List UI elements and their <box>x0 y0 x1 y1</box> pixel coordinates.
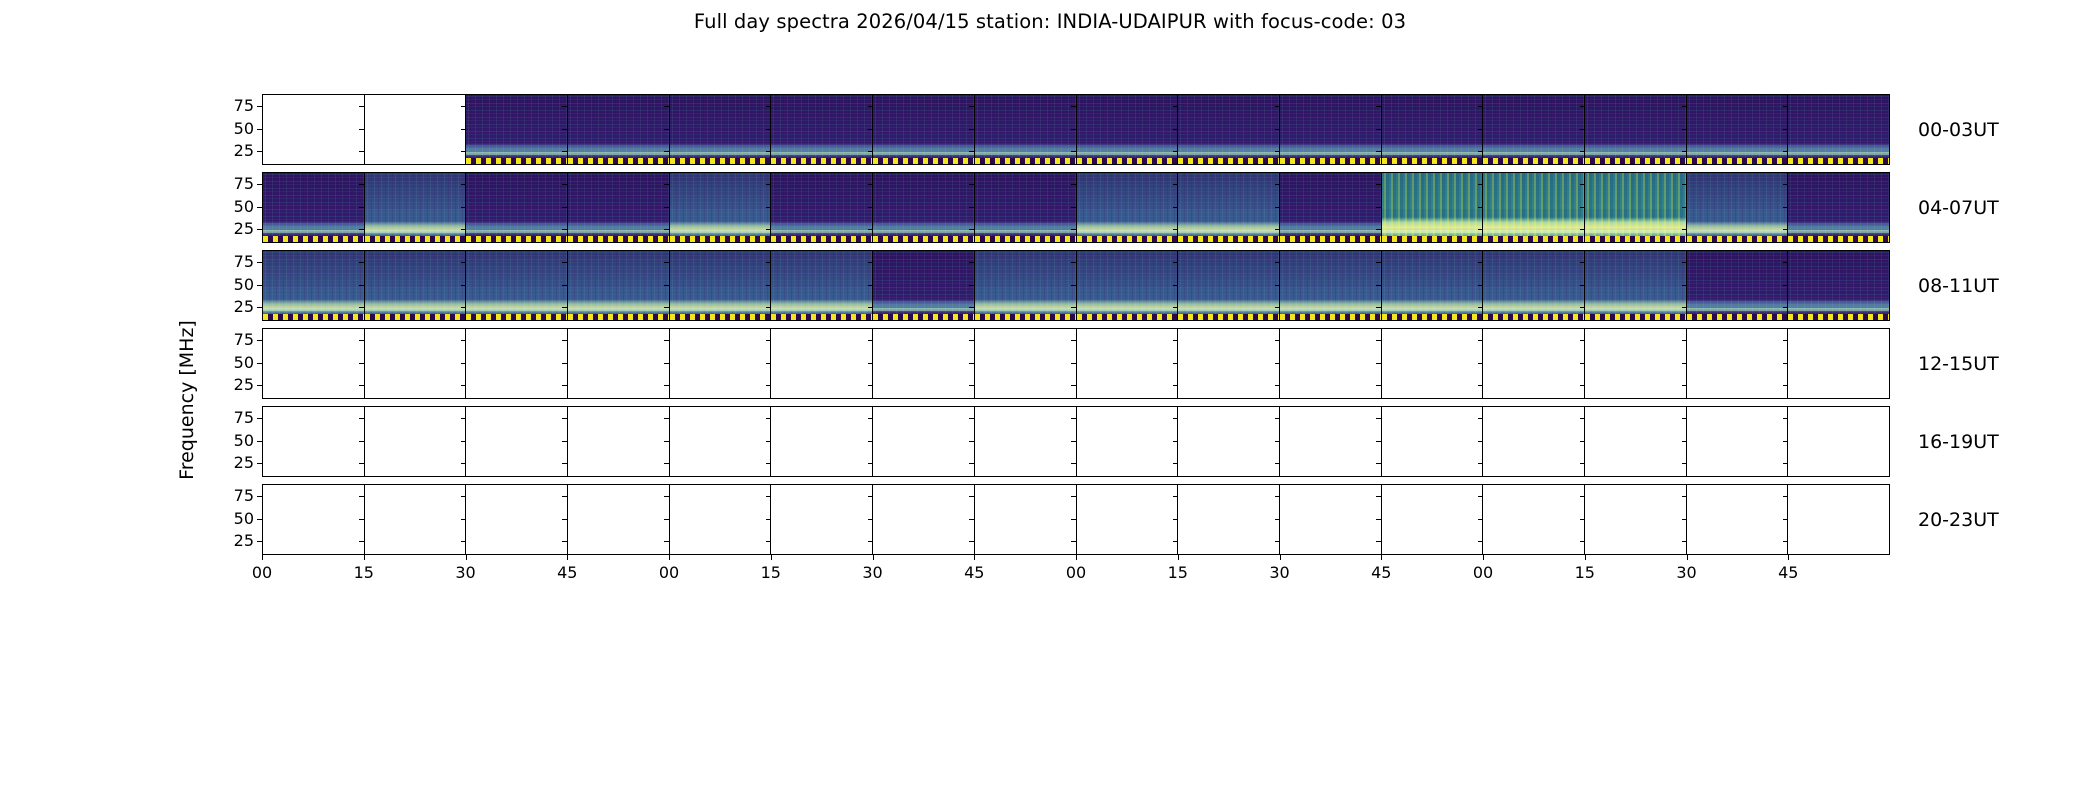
y-tick-mark <box>257 340 262 341</box>
spectrogram-layer-lowband2 <box>1483 152 1584 155</box>
spectrogram-cell[interactable] <box>1382 173 1484 242</box>
y-tick-mark-inner <box>1478 463 1483 464</box>
spectrogram-cell[interactable] <box>1483 251 1585 320</box>
spectrogram-layer-lowband2 <box>263 230 364 233</box>
row-label: 08-11UT <box>1918 275 1999 297</box>
y-tick-mark <box>257 496 262 497</box>
y-tick-label: 25 <box>214 221 254 237</box>
y-tick-mark-inner <box>1376 340 1381 341</box>
y-tick-mark-inner <box>1376 519 1381 520</box>
spectrogram-cell[interactable] <box>568 329 670 398</box>
spectrogram-cell[interactable] <box>975 407 1077 476</box>
spectrogram-cell[interactable] <box>1178 329 1280 398</box>
spectrogram-cell[interactable] <box>1483 407 1585 476</box>
y-tick-mark-inner <box>1376 229 1381 230</box>
y-tick-mark-inner <box>1275 340 1280 341</box>
y-tick-mark-inner <box>969 207 974 208</box>
spectrogram-cell[interactable] <box>568 251 670 320</box>
y-tick-mark-inner <box>1783 418 1788 419</box>
spectrogram-layer-lowband2 <box>1077 152 1178 155</box>
y-tick-mark-inner <box>461 106 466 107</box>
y-tick-mark-inner <box>766 307 771 308</box>
y-tick-mark-inner <box>1682 151 1687 152</box>
spectrogram-cell[interactable] <box>1483 329 1585 398</box>
y-tick-mark-inner <box>1580 541 1585 542</box>
rfi-dotted-rule <box>1382 236 1483 242</box>
y-tick-mark-inner <box>664 385 669 386</box>
spectrogram-image <box>771 95 872 164</box>
spectrogram-layer-lowband2 <box>365 308 466 311</box>
rfi-dotted-rule <box>1077 314 1178 320</box>
spectrogram-layer-lowband2 <box>1178 308 1279 311</box>
spectrogram-cell[interactable] <box>670 173 772 242</box>
spectrogram-layer-lowband <box>1483 143 1584 158</box>
y-tick-mark-inner <box>359 207 364 208</box>
spectrogram-layer-lowband <box>466 299 567 314</box>
y-tick-mark-inner <box>1580 129 1585 130</box>
y-tick-mark-inner <box>969 262 974 263</box>
spectrogram-cell[interactable] <box>1585 485 1687 554</box>
spectrogram-cell[interactable] <box>975 95 1077 164</box>
y-tick-mark-inner <box>969 184 974 185</box>
spectrogram-cell[interactable] <box>263 485 365 554</box>
x-tick-mark <box>974 555 975 560</box>
spectrogram-cell[interactable] <box>263 173 365 242</box>
spectrogram-layer-lowband <box>771 299 872 314</box>
spectrogram-image <box>1483 251 1584 320</box>
y-tick-mark-inner <box>1478 541 1483 542</box>
y-tick-mark-inner <box>1682 207 1687 208</box>
spectrogram-layer-lowband <box>1788 221 1889 236</box>
y-tick-mark-inner <box>664 106 669 107</box>
spectrogram-cell[interactable] <box>1178 251 1280 320</box>
spectrogram-cell[interactable] <box>873 485 975 554</box>
spectrogram-cell[interactable] <box>873 251 975 320</box>
y-tick-mark-inner <box>461 541 466 542</box>
y-tick-mark <box>257 129 262 130</box>
spectrogram-cell[interactable] <box>873 173 975 242</box>
y-tick-mark-inner <box>1275 307 1280 308</box>
rfi-dotted-rule <box>1687 236 1788 242</box>
y-tick-mark-inner <box>1682 340 1687 341</box>
y-tick-label: 25 <box>214 143 254 159</box>
spectrogram-image <box>263 173 364 242</box>
spectrogram-layer-lowband <box>263 299 364 314</box>
y-tick-mark-inner <box>1682 262 1687 263</box>
spectrogram-layer-lowband2 <box>466 230 567 233</box>
y-tick-mark-inner <box>1275 262 1280 263</box>
spectrogram-layer-lowband2 <box>263 308 364 311</box>
spectrogram-cell[interactable] <box>365 329 467 398</box>
y-tick-label: 25 <box>214 299 254 315</box>
spectrogram-image <box>873 173 974 242</box>
y-tick-mark-inner <box>1682 129 1687 130</box>
y-tick-mark-inner <box>359 418 364 419</box>
y-tick-mark-inner <box>1783 129 1788 130</box>
spectrogram-layer-lowband <box>1382 299 1483 314</box>
y-tick-mark-inner <box>1071 229 1076 230</box>
spectrogram-layer-lowband2 <box>1585 308 1686 311</box>
spectrogram-cell[interactable] <box>1382 95 1484 164</box>
y-tick-mark-inner <box>969 418 974 419</box>
y-tick-mark-inner <box>868 519 873 520</box>
y-tick-mark-inner <box>1376 285 1381 286</box>
y-tick-mark <box>257 184 262 185</box>
rfi-dotted-rule <box>1687 158 1788 164</box>
spectrogram-cell[interactable] <box>975 329 1077 398</box>
y-tick-mark-inner <box>461 207 466 208</box>
rfi-dotted-rule <box>1077 236 1178 242</box>
y-tick-mark-inner <box>1173 463 1178 464</box>
spectrogram-cell[interactable] <box>670 329 772 398</box>
spectrogram-cell[interactable] <box>466 173 568 242</box>
y-tick-mark-inner <box>1071 207 1076 208</box>
spectrogram-cell[interactable] <box>466 251 568 320</box>
rfi-dotted-rule <box>1280 158 1381 164</box>
spectrogram-cell[interactable] <box>1687 95 1789 164</box>
spectrogram-image <box>975 251 1076 320</box>
spectrogram-cell[interactable] <box>1280 407 1382 476</box>
y-tick-mark <box>257 229 262 230</box>
spectrogram-cell[interactable] <box>670 95 772 164</box>
spectrogram-cell[interactable] <box>263 329 365 398</box>
row-plot-frame <box>262 406 1890 477</box>
spectrogram-cell[interactable] <box>466 329 568 398</box>
rfi-dotted-rule <box>1077 158 1178 164</box>
rfi-dotted-rule <box>1585 158 1686 164</box>
y-tick-mark-inner <box>1173 519 1178 520</box>
y-tick-mark-inner <box>461 285 466 286</box>
spectrogram-cell[interactable] <box>975 485 1077 554</box>
spectrogram-layer-lowband <box>1382 217 1483 238</box>
spectrogram-cell[interactable] <box>873 407 975 476</box>
y-tick-mark-inner <box>1275 285 1280 286</box>
y-tick-mark-inner <box>1783 519 1788 520</box>
y-tick-mark-inner <box>359 363 364 364</box>
spectrogram-layer-lowband2 <box>1382 152 1483 155</box>
spectrogram-layer-lowband2 <box>1788 152 1889 155</box>
y-tick-mark-inner <box>461 496 466 497</box>
spectrogram-cell[interactable] <box>1077 95 1179 164</box>
spectrogram-layer-lowband2 <box>1280 230 1381 233</box>
spectrogram-layer-lowband <box>771 143 872 158</box>
y-tick-mark-inner <box>868 207 873 208</box>
spectrogram-cell[interactable] <box>1280 251 1382 320</box>
row-label: 12-15UT <box>1918 353 1999 375</box>
row-label: 20-23UT <box>1918 509 1999 531</box>
y-tick-mark-inner <box>1783 385 1788 386</box>
spectrogram-cell[interactable] <box>1687 485 1789 554</box>
spectrogram-cell[interactable] <box>1178 485 1280 554</box>
y-tick-mark-inner <box>1580 418 1585 419</box>
spectrogram-image <box>263 251 364 320</box>
spectrogram-cell[interactable] <box>1585 251 1687 320</box>
y-tick-mark-inner <box>1682 285 1687 286</box>
spectrogram-image <box>1788 173 1889 242</box>
spectrogram-layer-lowband <box>1687 143 1788 158</box>
spectrogram-cell[interactable] <box>1687 173 1789 242</box>
y-tick-mark-inner <box>664 129 669 130</box>
y-tick-mark-inner <box>1478 496 1483 497</box>
y-tick-mark-inner <box>1376 496 1381 497</box>
spectrogram-cell[interactable] <box>771 251 873 320</box>
y-tick-mark-inner <box>1580 307 1585 308</box>
y-tick-mark-inner <box>766 129 771 130</box>
spectrogram-cell[interactable] <box>670 485 772 554</box>
rfi-dotted-rule <box>873 236 974 242</box>
y-tick-mark-inner <box>1173 106 1178 107</box>
y-tick-mark-inner <box>664 519 669 520</box>
x-tick-mark <box>364 555 365 560</box>
y-tick-mark-inner <box>1783 106 1788 107</box>
y-tick-mark-inner <box>1783 262 1788 263</box>
spectrogram-cell[interactable] <box>1382 251 1484 320</box>
y-tick-mark-inner <box>1173 363 1178 364</box>
spectrogram-layer-lowband2 <box>1382 308 1483 311</box>
spectrogram-image <box>771 251 872 320</box>
rfi-dotted-rule <box>1483 158 1584 164</box>
y-tick-mark-inner <box>1783 363 1788 364</box>
y-tick-label: 25 <box>214 533 254 549</box>
rfi-dotted-rule <box>1280 236 1381 242</box>
spectrogram-layer-lowband2 <box>1788 230 1889 233</box>
y-tick-mark-inner <box>969 229 974 230</box>
y-tick-mark-inner <box>1376 463 1381 464</box>
spectrogram-cell[interactable] <box>1178 407 1280 476</box>
spectrogram-cell[interactable] <box>1788 173 1889 242</box>
rfi-dotted-rule <box>466 158 567 164</box>
spectrogram-layer-lowband2 <box>1687 152 1788 155</box>
y-tick-mark-inner <box>1376 418 1381 419</box>
x-tick-label: 45 <box>1778 565 1798 581</box>
spectrogram-cell[interactable] <box>263 95 365 164</box>
spectrogram-cell[interactable] <box>670 251 772 320</box>
spectrogram-cell[interactable] <box>873 329 975 398</box>
spectrogram-cell[interactable] <box>1280 485 1382 554</box>
spectrogram-cell[interactable] <box>1585 95 1687 164</box>
y-tick-mark-inner <box>1173 418 1178 419</box>
spectrogram-cell[interactable] <box>771 95 873 164</box>
spectrogram-cell[interactable] <box>1788 407 1889 476</box>
y-tick-mark-inner <box>868 151 873 152</box>
rfi-dotted-rule <box>1280 314 1381 320</box>
x-tick-label: 30 <box>455 565 475 581</box>
y-tick-mark-inner <box>868 418 873 419</box>
spectrogram-cell[interactable] <box>975 173 1077 242</box>
y-tick-mark-inner <box>766 207 771 208</box>
y-tick-mark-inner <box>766 385 771 386</box>
spectrogram-cell[interactable] <box>1483 95 1585 164</box>
y-tick-mark-inner <box>868 184 873 185</box>
spectrogram-cell[interactable] <box>1483 173 1585 242</box>
spectrogram-layer-lowband <box>466 143 567 158</box>
spectrogram-cell[interactable] <box>771 329 873 398</box>
y-tick-mark-inner <box>1783 184 1788 185</box>
spectrogram-cell[interactable] <box>263 407 365 476</box>
spectrogram-layer-lowband <box>1077 299 1178 314</box>
spectrogram-cell[interactable] <box>1788 251 1889 320</box>
y-tick-mark-inner <box>562 151 567 152</box>
spectrogram-cell[interactable] <box>1178 173 1280 242</box>
y-tick-mark-inner <box>1071 519 1076 520</box>
y-tick-mark-inner <box>461 418 466 419</box>
spectrogram-cell[interactable] <box>365 485 467 554</box>
y-tick-label: 50 <box>214 355 254 371</box>
y-tick-mark-inner <box>766 463 771 464</box>
y-tick-mark-inner <box>868 307 873 308</box>
spectrogram-cell[interactable] <box>568 95 670 164</box>
y-tick-mark-inner <box>1580 340 1585 341</box>
rfi-dotted-rule <box>1788 158 1889 164</box>
y-tick-mark-inner <box>461 307 466 308</box>
spectrogram-cell[interactable] <box>365 95 467 164</box>
x-tick-mark <box>771 555 772 560</box>
y-tick-mark-inner <box>562 496 567 497</box>
y-tick-mark-inner <box>664 184 669 185</box>
spectrogram-cell[interactable] <box>771 173 873 242</box>
y-tick-mark-inner <box>664 207 669 208</box>
spectrogram-layer-lowband2 <box>873 152 974 155</box>
spectrogram-cell[interactable] <box>1585 173 1687 242</box>
spectrogram-cell[interactable] <box>365 173 467 242</box>
y-tick-mark-inner <box>664 363 669 364</box>
rfi-dotted-rule <box>771 236 872 242</box>
y-tick-mark-inner <box>969 363 974 364</box>
spectrogram-cell[interactable] <box>466 95 568 164</box>
spectrogram-cell[interactable] <box>771 485 873 554</box>
y-tick-mark-inner <box>1682 307 1687 308</box>
x-tick-label: 00 <box>659 565 679 581</box>
spectrogram-cell[interactable] <box>771 407 873 476</box>
y-tick-mark-inner <box>359 496 364 497</box>
y-tick-mark-inner <box>1682 496 1687 497</box>
spectrogram-cell[interactable] <box>1382 485 1484 554</box>
y-tick-mark-inner <box>969 541 974 542</box>
spectrogram-cell[interactable] <box>365 251 467 320</box>
y-tick-mark-inner <box>562 340 567 341</box>
spectrogram-layer-lowband <box>365 299 466 314</box>
spectrogram-layer-lowband2 <box>670 308 771 311</box>
y-tick-label: 75 <box>214 410 254 426</box>
spectrogram-cell[interactable] <box>466 485 568 554</box>
spectrogram-cell[interactable] <box>1687 251 1789 320</box>
rfi-dotted-rule <box>1382 158 1483 164</box>
y-tick-mark-inner <box>1071 106 1076 107</box>
y-tick-mark-inner <box>1783 496 1788 497</box>
spectrogram-cell[interactable] <box>1077 173 1179 242</box>
spectrogram-cell[interactable] <box>1788 329 1889 398</box>
x-tick-label: 30 <box>1676 565 1696 581</box>
y-tick-mark-inner <box>461 262 466 263</box>
spectrogram-cell[interactable] <box>1280 329 1382 398</box>
spectrogram-cell[interactable] <box>1585 407 1687 476</box>
y-tick-mark-inner <box>969 519 974 520</box>
spectrogram-cell[interactable] <box>365 407 467 476</box>
spectrogram-layer-lowband <box>1077 143 1178 158</box>
spectrogram-layer-lowband <box>263 221 364 236</box>
y-tick-mark-inner <box>1071 418 1076 419</box>
y-tick-mark-inner <box>562 519 567 520</box>
spectrogram-cell[interactable] <box>1687 329 1789 398</box>
spectrogram-cell[interactable] <box>1483 485 1585 554</box>
spectrogram-cell[interactable] <box>1382 407 1484 476</box>
y-tick-mark-inner <box>461 151 466 152</box>
y-tick-label: 50 <box>214 277 254 293</box>
spectrogram-cell[interactable] <box>1077 329 1179 398</box>
spectrogram-cell[interactable] <box>1077 407 1179 476</box>
rfi-dotted-rule <box>1687 314 1788 320</box>
y-tick-mark-inner <box>359 385 364 386</box>
spectrogram-layer-lowband <box>975 299 1076 314</box>
spectrogram-cell[interactable] <box>466 407 568 476</box>
spectrogram-image <box>466 95 567 164</box>
spectrogram-cell[interactable] <box>975 251 1077 320</box>
y-tick-mark-inner <box>969 340 974 341</box>
y-tick-mark-inner <box>461 340 466 341</box>
spectrogram-layer-lowband2 <box>975 152 1076 155</box>
spectrogram-cell[interactable] <box>1687 407 1789 476</box>
y-tick-mark-inner <box>1478 340 1483 341</box>
y-tick-mark-inner <box>868 340 873 341</box>
x-tick-label: 30 <box>1269 565 1289 581</box>
spectrogram-layer-lowband2 <box>365 230 466 233</box>
rfi-dotted-rule <box>1585 236 1686 242</box>
y-tick-mark-inner <box>461 385 466 386</box>
spectrogram-cell[interactable] <box>1585 329 1687 398</box>
x-tick-label: 15 <box>761 565 781 581</box>
spectrogram-cell[interactable] <box>1280 95 1382 164</box>
spectrogram-cell[interactable] <box>263 251 365 320</box>
y-tick-mark-inner <box>969 441 974 442</box>
spectrogram-cell[interactable] <box>1382 329 1484 398</box>
spectrogram-layer-lowband <box>1585 217 1686 238</box>
spectrogram-cell[interactable] <box>1077 251 1179 320</box>
spectrogram-cell[interactable] <box>1178 95 1280 164</box>
spectrogram-layer-lowband2 <box>1077 230 1178 233</box>
spectrogram-cell[interactable] <box>670 407 772 476</box>
y-tick-mark-inner <box>1275 229 1280 230</box>
y-tick-mark-inner <box>1376 129 1381 130</box>
spectrogram-image <box>1483 95 1584 164</box>
y-tick-mark-inner <box>1275 463 1280 464</box>
rfi-dotted-rule <box>1178 236 1279 242</box>
rfi-dotted-rule <box>1788 236 1889 242</box>
spectrogram-cell[interactable] <box>568 407 670 476</box>
spectrogram-cell[interactable] <box>1077 485 1179 554</box>
y-tick-mark-inner <box>461 229 466 230</box>
y-tick-mark-inner <box>359 340 364 341</box>
spectrogram-cell[interactable] <box>1788 485 1889 554</box>
y-tick-mark-inner <box>1275 106 1280 107</box>
row-plot-frame <box>262 484 1890 555</box>
spectrogram-cell[interactable] <box>568 173 670 242</box>
spectrogram-cell[interactable] <box>568 485 670 554</box>
y-tick-mark-inner <box>868 463 873 464</box>
y-tick-mark-inner <box>1173 129 1178 130</box>
y-tick-mark <box>257 519 262 520</box>
y-tick-mark-inner <box>969 307 974 308</box>
spectrogram-cell[interactable] <box>1788 95 1889 164</box>
y-tick-mark-inner <box>766 184 771 185</box>
spectrogram-cell[interactable] <box>873 95 975 164</box>
y-tick-mark-inner <box>1173 285 1178 286</box>
y-tick-mark-inner <box>868 262 873 263</box>
y-tick-mark-inner <box>562 418 567 419</box>
y-tick-mark-inner <box>766 340 771 341</box>
spectrogram-cell[interactable] <box>1280 173 1382 242</box>
spectrogram-layer-lowband2 <box>1280 152 1381 155</box>
y-axis-title: Frequency [MHz] <box>175 0 199 800</box>
